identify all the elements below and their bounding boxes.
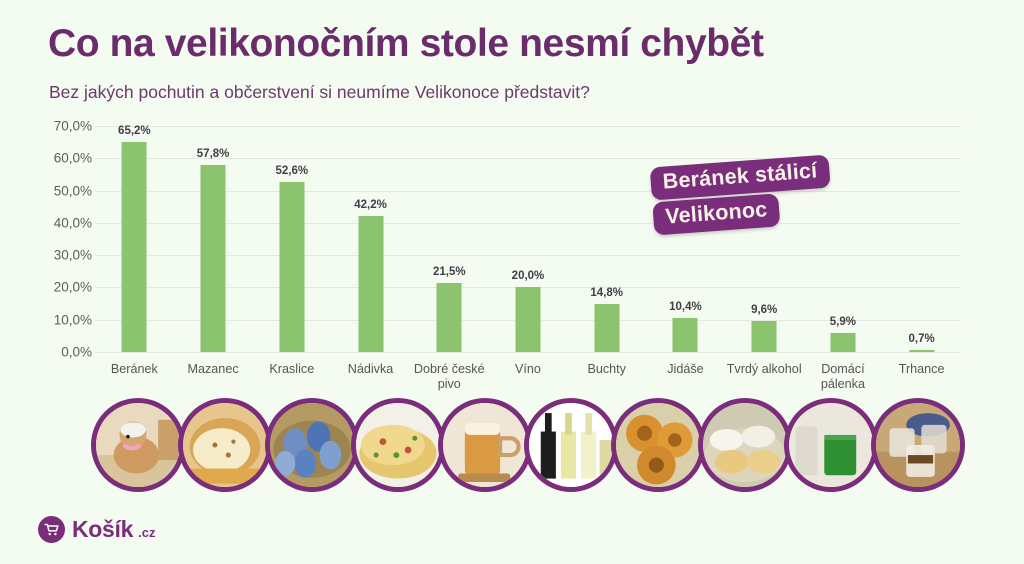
y-axis-tick-label: 30,0% (12, 248, 92, 263)
x-axis-category-label: Mazanec (174, 362, 253, 377)
photo-pivo (438, 398, 532, 492)
y-axis-tick-label: 60,0% (12, 151, 92, 166)
photo-mazanec (178, 398, 272, 492)
bar-value-label: 5,9% (830, 316, 856, 328)
photo-strip (95, 398, 961, 498)
brand-logo[interactable]: Košík .cz (38, 516, 155, 543)
x-axis-category-label: Jidáše (646, 362, 725, 377)
photo-kraslice (265, 398, 359, 492)
y-axis-tick-label: 10,0% (12, 312, 92, 327)
photo-domaci-palenka (871, 398, 965, 492)
photo-buchty (611, 398, 705, 492)
bar-column[interactable]: 20,0% (489, 126, 568, 352)
bar[interactable] (673, 318, 698, 352)
sticker-line-2: Velikonoc (652, 193, 780, 235)
infographic-root: Co na velikonočním stole nesmí chybět Be… (0, 0, 1024, 564)
bar-column[interactable]: 14,8% (567, 126, 646, 352)
gridline (95, 352, 961, 353)
bar-value-label: 21,5% (433, 266, 466, 278)
x-axis-category-label: Domácí pálenka (804, 362, 883, 392)
logo-tld: .cz (138, 525, 155, 543)
shopping-cart-icon (38, 516, 65, 543)
photo-vino (524, 398, 618, 492)
x-axis-category-label: Kraslice (252, 362, 331, 377)
bar[interactable] (437, 283, 462, 352)
bar-value-label: 9,6% (751, 304, 777, 316)
bar-value-label: 52,6% (276, 165, 309, 177)
y-axis-tick-label: 0,0% (12, 345, 92, 360)
photo-jidase (698, 398, 792, 492)
bar[interactable] (201, 165, 226, 352)
photo-beranek (91, 398, 185, 492)
bar-value-label: 0,7% (909, 333, 935, 345)
bar-value-label: 57,8% (197, 148, 230, 160)
x-axis-category-label: Tvrdý alkohol (725, 362, 804, 377)
page-title: Co na velikonočním stole nesmí chybět (48, 22, 764, 66)
y-axis-tick-label: 70,0% (12, 119, 92, 134)
bar-value-label: 10,4% (669, 301, 702, 313)
bar-value-label: 65,2% (118, 125, 151, 137)
bar[interactable] (122, 142, 147, 353)
bar-column[interactable]: 52,6% (252, 126, 331, 352)
bar[interactable] (909, 350, 934, 352)
y-axis-tick-label: 40,0% (12, 215, 92, 230)
x-axis-category-label: Trhance (882, 362, 961, 377)
x-axis-category-label: Beránek (95, 362, 174, 377)
bar-column[interactable]: 21,5% (410, 126, 489, 352)
page-subtitle: Bez jakých pochutin a občerstvení si neu… (49, 82, 590, 103)
x-axis-category-label: Dobré české pivo (410, 362, 489, 392)
bar[interactable] (594, 304, 619, 352)
bar-value-label: 14,8% (590, 287, 623, 299)
y-axis-tick-label: 20,0% (12, 280, 92, 295)
photo-tvrdy-alkohol (784, 398, 878, 492)
bar-value-label: 42,2% (354, 199, 387, 211)
y-axis-tick-label: 50,0% (12, 183, 92, 198)
bar[interactable] (358, 216, 383, 352)
bar[interactable] (279, 182, 304, 352)
bar-column[interactable]: 65,2% (95, 126, 174, 352)
x-axis-category-label: Víno (489, 362, 568, 377)
bar-column[interactable]: 57,8% (174, 126, 253, 352)
logo-name: Košík (72, 516, 133, 543)
x-axis-category-label: Buchty (567, 362, 646, 377)
bar-value-label: 20,0% (512, 270, 545, 282)
x-axis-category-label: Nádivka (331, 362, 410, 377)
photo-nadivka (351, 398, 445, 492)
bar-column[interactable]: 42,2% (331, 126, 410, 352)
bar[interactable] (752, 321, 777, 352)
x-axis-labels: BeránekMazanecKrasliceNádivkaDobré české… (95, 362, 961, 402)
bar[interactable] (830, 333, 855, 352)
bar[interactable] (515, 287, 540, 352)
